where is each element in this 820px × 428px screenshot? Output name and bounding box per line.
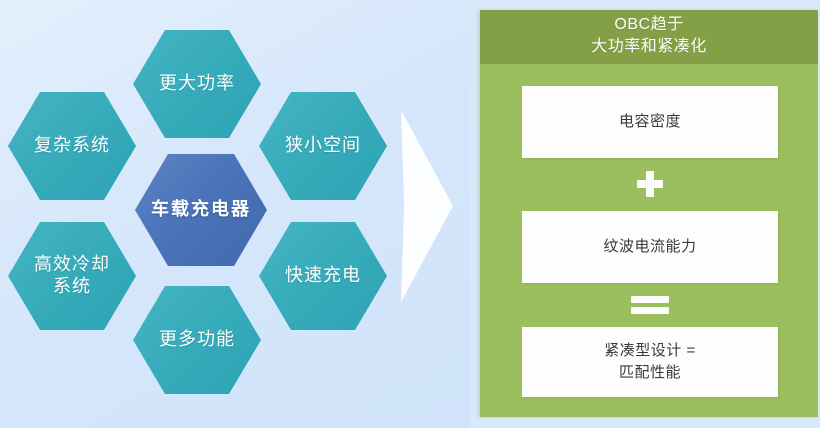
card-label: 纹波电流能力 <box>603 236 696 258</box>
operator-plus-row <box>522 158 778 211</box>
hexagon-label: 快速充电 <box>285 265 361 287</box>
card-capacitance-density[interactable]: 电容密度 <box>522 86 778 158</box>
hexagon-small-space[interactable]: 狭小空间 <box>259 92 387 200</box>
card-compact-design-result[interactable]: 紧凑型设计 = 匹配性能 <box>522 327 778 397</box>
hexagon-label: 更大功率 <box>159 73 235 95</box>
card-label-line-1: 紧凑型设计 = <box>604 340 695 362</box>
operator-equals-row <box>522 283 778 328</box>
panel-title: OBC趋于 大功率和紧凑化 <box>480 10 818 64</box>
panel-title-text: OBC趋于 大功率和紧凑化 <box>591 14 707 57</box>
panel-title-line-1: OBC趋于 <box>591 14 707 36</box>
hexagon-label-line-1: 高效冷却 <box>34 254 110 276</box>
hexagon-complex-system[interactable]: 复杂系统 <box>8 92 136 200</box>
hexagon-label: 高效冷却 系统 <box>34 254 110 298</box>
hexagon-label: 狭小空间 <box>285 135 361 157</box>
card-label-line-2: 匹配性能 <box>604 362 695 384</box>
obc-trend-panel: OBC趋于 大功率和紧凑化 电容密度 纹波电流能力 紧凑型设计 = 匹配性能 <box>480 10 818 417</box>
hexagon-label: 更多功能 <box>159 329 235 351</box>
card-ripple-current-capability[interactable]: 纹波电流能力 <box>522 211 778 283</box>
plus-icon <box>637 171 663 197</box>
hexagon-label-line-2: 系统 <box>34 276 110 298</box>
card-label: 电容密度 <box>619 111 681 133</box>
equals-icon <box>631 296 669 314</box>
panel-body: 电容密度 纹波电流能力 紧凑型设计 = 匹配性能 <box>480 64 818 417</box>
infographic-canvas: 复杂系统 更大功率 狭小空间 高效冷却 系统 车载充电器 快速充电 更多功能 <box>0 0 820 428</box>
hexagon-on-board-charger[interactable]: 车载充电器 <box>135 154 267 266</box>
panel-title-line-2: 大功率和紧凑化 <box>591 36 707 58</box>
hexagon-center-label: 车载充电器 <box>151 199 251 221</box>
hexagon-fast-charging[interactable]: 快速充电 <box>259 222 387 330</box>
hexagon-more-functions[interactable]: 更多功能 <box>133 286 261 394</box>
hexagon-efficient-cooling-system[interactable]: 高效冷却 系统 <box>8 222 136 330</box>
hexagon-higher-power[interactable]: 更大功率 <box>133 30 261 138</box>
hexagon-cluster-panel: 复杂系统 更大功率 狭小空间 高效冷却 系统 车载充电器 快速充电 更多功能 <box>0 0 470 428</box>
card-label: 紧凑型设计 = 匹配性能 <box>604 340 695 384</box>
hexagon-label: 复杂系统 <box>34 135 110 157</box>
